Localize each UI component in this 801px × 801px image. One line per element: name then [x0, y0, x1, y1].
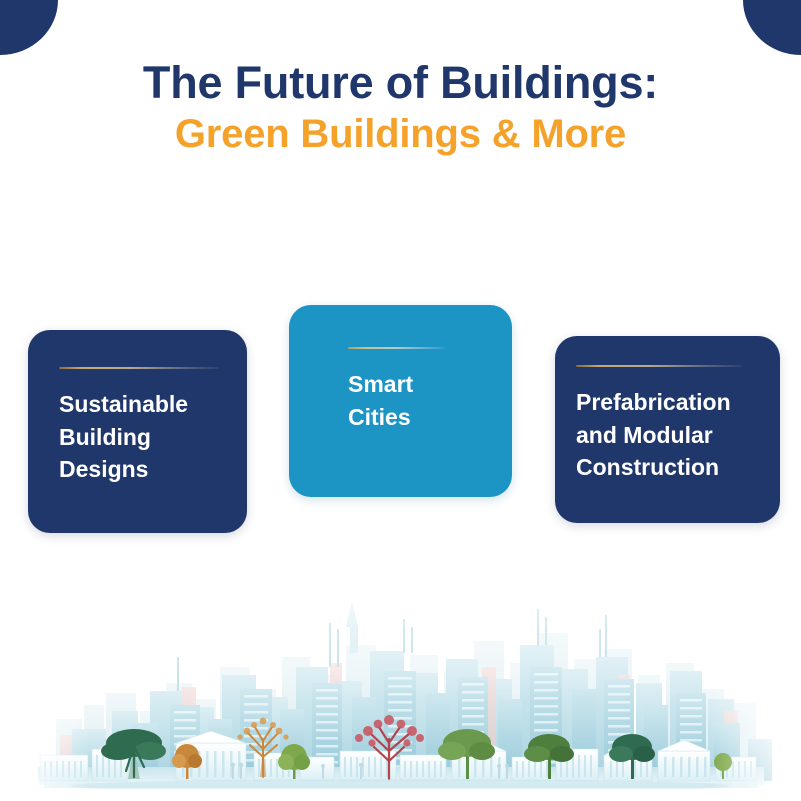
card-prefabrication-modular-construction[interactable]: Prefabrication and Modular Construction: [555, 336, 780, 523]
card-divider-line: [348, 347, 445, 349]
card-divider-line: [576, 365, 742, 367]
title-line-primary: The Future of Buildings:: [0, 58, 801, 108]
title-line-secondary: Green Buildings & More: [0, 112, 801, 157]
card-smart-cities[interactable]: Smart Cities: [289, 305, 512, 497]
city-skyline-illustration: [0, 571, 801, 801]
corner-ornament-top-right: [743, 0, 801, 55]
card-label-sustainable: Sustainable Building Designs: [59, 388, 235, 486]
card-label-smart-cities: Smart Cities: [348, 368, 488, 433]
card-label-prefabrication: Prefabrication and Modular Construction: [576, 386, 772, 484]
card-divider-line: [59, 367, 219, 369]
card-sustainable-building-designs[interactable]: Sustainable Building Designs: [28, 330, 247, 533]
infographic-canvas: The Future of Buildings: Green Buildings…: [0, 0, 801, 801]
corner-ornament-top-left: [0, 0, 58, 55]
page-title: The Future of Buildings: Green Buildings…: [0, 58, 801, 157]
